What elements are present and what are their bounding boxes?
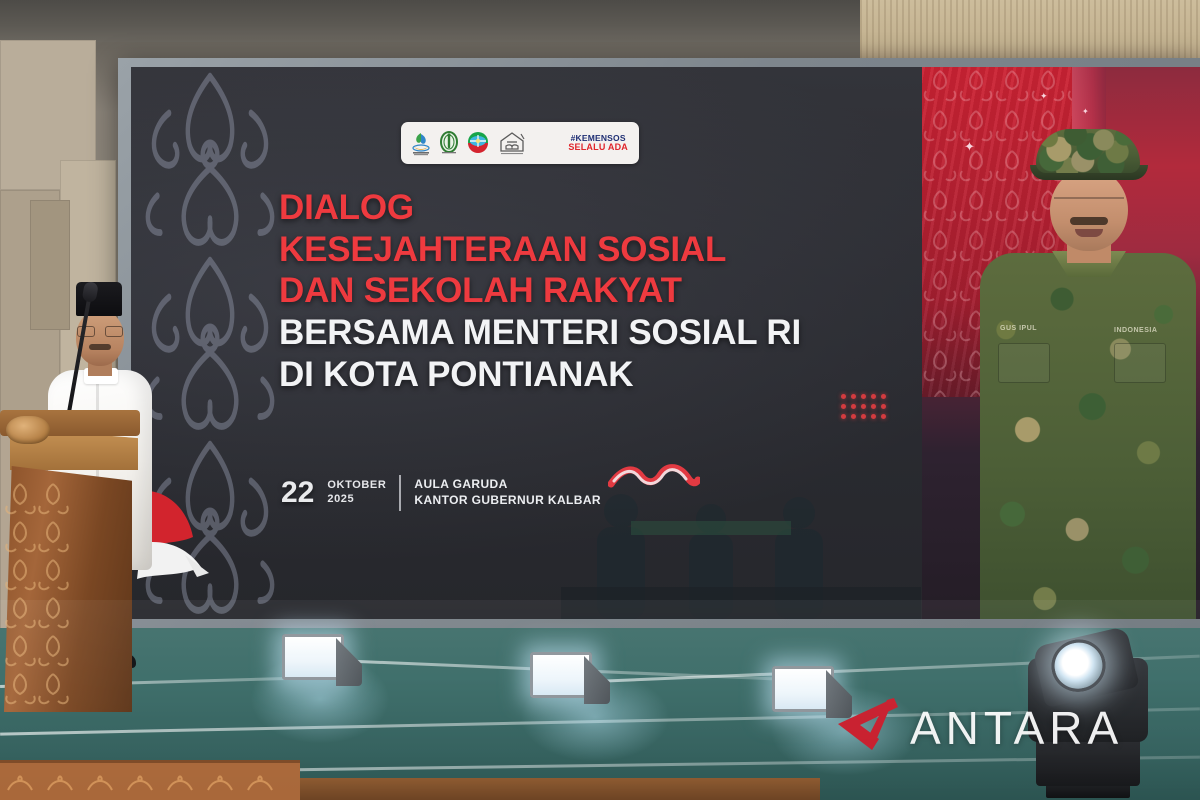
officer-name-tape: GUS IPUL bbox=[1000, 325, 1037, 332]
podium-emblem bbox=[6, 416, 50, 444]
floodlight-lens bbox=[530, 652, 592, 698]
photo-scene: #KEMENSOS SELALU ADA DIALOG KESEJAHTERAA… bbox=[0, 0, 1200, 800]
sekolah-rakyat-house-logo-icon bbox=[497, 130, 527, 156]
sparkle-icon: ✦ bbox=[1082, 107, 1089, 116]
green-oval-emblem-logo-icon bbox=[439, 130, 459, 156]
floodlight-housing bbox=[584, 656, 610, 704]
slide-headline: DIALOG KESEJAHTERAAN SOSIAL DAN SEKOLAH … bbox=[279, 187, 899, 395]
stage-floodlight-icon bbox=[772, 666, 850, 718]
stage-edge-trim bbox=[300, 778, 820, 800]
stage-floodlight-icon bbox=[282, 634, 360, 686]
headline-line-3: DAN SEKOLAH RAKYAT bbox=[279, 270, 899, 312]
floodlight-lens bbox=[282, 634, 344, 680]
officer-figure: GUS IPUL INDONESIA bbox=[974, 129, 1200, 619]
divider bbox=[399, 475, 401, 511]
event-date-detail: OKTOBER 2025 bbox=[327, 479, 386, 507]
officer-smile bbox=[1075, 229, 1103, 237]
officer-right-pocket bbox=[1114, 343, 1166, 383]
floodlight-lens bbox=[772, 666, 834, 712]
garuda-crest-logo-icon bbox=[466, 130, 490, 156]
officer-left-pocket bbox=[998, 343, 1050, 383]
headline-line-1: DIALOG bbox=[279, 187, 899, 229]
audience-silhouettes bbox=[561, 469, 921, 619]
sparkle-icon: ✦ bbox=[1040, 91, 1048, 102]
kementerian-sosial-logo-icon bbox=[410, 130, 432, 156]
officer-brow bbox=[1054, 197, 1124, 199]
headline-line-4: BERSAMA MENTERI SOSIAL RI bbox=[279, 312, 899, 354]
stage-floodlight-icon bbox=[530, 652, 608, 704]
officer-cap bbox=[1036, 129, 1140, 173]
kemensos-hashtag: #KEMENSOS SELALU ADA bbox=[568, 134, 630, 152]
speaker-mustache bbox=[89, 344, 111, 350]
kemensos-hashtag-line2: SELALU ADA bbox=[568, 143, 628, 152]
logo-bar: #KEMENSOS SELALU ADA bbox=[401, 122, 639, 164]
wooden-wall-trim bbox=[860, 0, 1200, 60]
officer-uniform bbox=[980, 253, 1196, 619]
podium-carving bbox=[4, 480, 70, 710]
moving-head-spotlight-icon bbox=[1020, 630, 1180, 800]
carved-wood-skirting bbox=[0, 760, 300, 800]
floodlight-housing bbox=[826, 670, 852, 718]
event-date-number: 22 bbox=[281, 478, 314, 508]
event-month: OKTOBER bbox=[327, 479, 386, 493]
event-year: 2025 bbox=[327, 493, 386, 507]
carved-wooden-podium bbox=[0, 410, 140, 740]
officer-mustache bbox=[1070, 217, 1108, 225]
officer-face bbox=[1050, 169, 1128, 251]
officer-flag-tape: INDONESIA bbox=[1114, 327, 1157, 334]
floodlight-housing bbox=[336, 638, 362, 686]
led-screen: #KEMENSOS SELALU ADA DIALOG KESEJAHTERAA… bbox=[131, 67, 1200, 619]
slide-photo: ✦ ✦ ✦ GUS IPUL INDONESIA bbox=[922, 67, 1200, 619]
spotlight-lens bbox=[1046, 634, 1110, 697]
headline-line-2: KESEJAHTERAAN SOSIAL bbox=[279, 229, 899, 271]
headline-line-5: DI KOTA PONTIANAK bbox=[279, 354, 899, 396]
red-dot-grid-icon bbox=[841, 394, 891, 424]
led-screen-frame: #KEMENSOS SELALU ADA DIALOG KESEJAHTERAA… bbox=[118, 58, 1200, 628]
